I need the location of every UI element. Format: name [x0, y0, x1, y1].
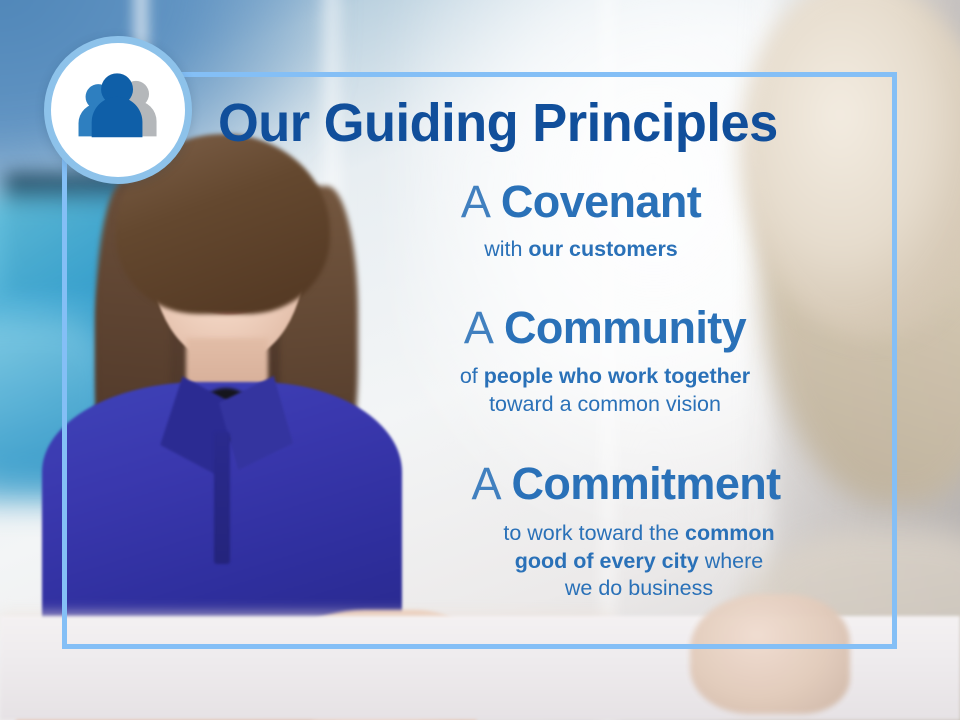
- principle-title: A Commitment: [372, 460, 880, 509]
- subtitle-text: to work toward the: [503, 521, 685, 545]
- subtitle-text: with: [484, 237, 528, 261]
- principle-article: A: [461, 176, 489, 227]
- guiding-principles-graphic: FLOW FLOW Our Guiding Principles: [0, 0, 960, 720]
- principle-title: A Covenant: [282, 178, 880, 227]
- subtitle-text: of: [460, 364, 484, 388]
- principle-title: A Community: [330, 304, 880, 353]
- page-title: Our Guiding Principles: [218, 96, 839, 150]
- subtitle-text-strong: our customers: [528, 237, 677, 261]
- subtitle-line: toward a common vision: [330, 391, 880, 419]
- principle-subtitle: to work toward the common good of every …: [398, 520, 880, 604]
- customer-hand: [690, 594, 850, 714]
- principle-article: A: [471, 458, 499, 509]
- principles-list: A Covenant with our customers A Communit…: [300, 178, 880, 607]
- principle-covenant: A Covenant with our customers: [282, 178, 880, 264]
- associate-shirt-placket: [214, 432, 230, 564]
- principle-keyword: Covenant: [501, 176, 701, 227]
- people-badge: [44, 36, 192, 184]
- subtitle-line: to work toward the common: [398, 520, 880, 548]
- subtitle-line: we do business: [398, 575, 880, 603]
- subtitle-text-strong: common: [685, 521, 775, 545]
- principle-subtitle: with our customers: [282, 236, 880, 264]
- people-group-icon: [71, 63, 165, 157]
- principle-keyword: Commitment: [512, 458, 781, 509]
- subtitle-text-strong: good of every city: [515, 549, 699, 573]
- principle-community: A Community of people who work together …: [330, 304, 880, 419]
- subtitle-text-strong: people who work together: [484, 364, 750, 388]
- subtitle-line: good of every city where: [398, 548, 880, 576]
- principle-subtitle: of people who work together toward a com…: [330, 363, 880, 419]
- subtitle-line: of people who work together: [330, 363, 880, 391]
- subtitle-text: we do business: [565, 576, 713, 600]
- principle-keyword: Community: [504, 302, 746, 353]
- principle-article: A: [464, 302, 492, 353]
- subtitle-text: where: [699, 549, 764, 573]
- subtitle-text: toward a common vision: [489, 392, 721, 416]
- principle-commitment: A Commitment to work toward the common g…: [372, 460, 880, 603]
- subtitle-line: with our customers: [282, 236, 880, 264]
